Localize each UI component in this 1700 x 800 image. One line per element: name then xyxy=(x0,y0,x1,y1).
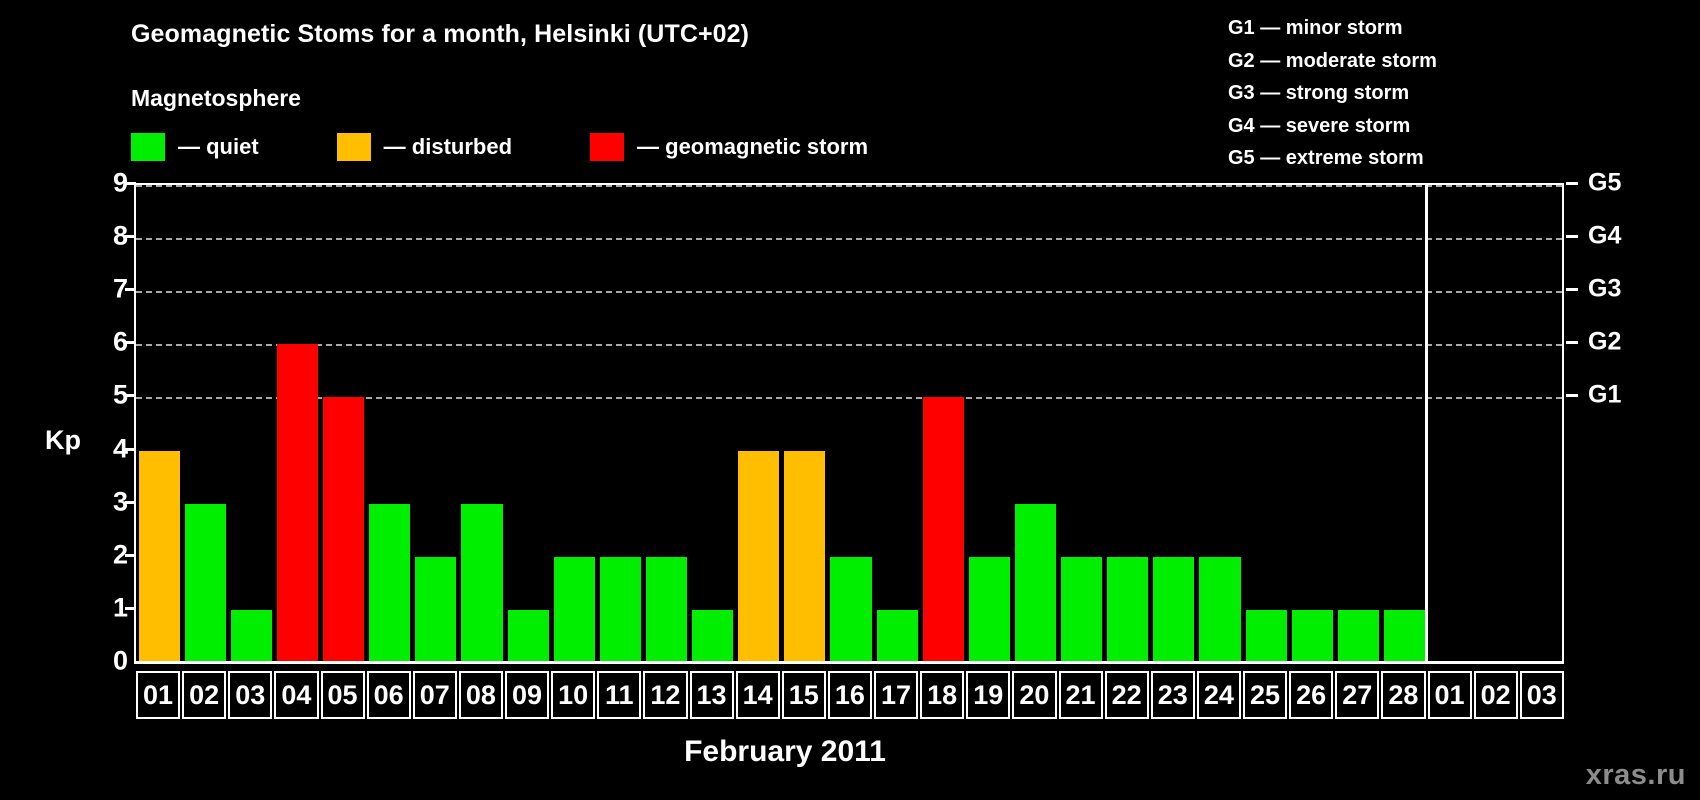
y-axis-tick-label: 3 xyxy=(68,486,128,517)
day-label-cell[interactable]: 11 xyxy=(597,671,641,719)
y-axis-tick-label: 8 xyxy=(68,221,128,252)
day-label-cell[interactable]: 12 xyxy=(643,671,687,719)
y-axis-tick-mark xyxy=(125,288,136,291)
bar xyxy=(1199,557,1240,663)
day-label-cell[interactable]: 04 xyxy=(274,671,318,719)
g-scale-tick-label: G5 xyxy=(1588,169,1621,198)
legend-entry: — disturbed xyxy=(337,132,512,162)
day-label-cell[interactable]: 19 xyxy=(966,671,1010,719)
bar xyxy=(923,397,964,663)
bar xyxy=(554,557,595,663)
bar xyxy=(185,504,226,663)
y-axis-tick-label: 9 xyxy=(68,168,128,199)
bar xyxy=(1015,504,1056,663)
legend-color-swatch xyxy=(131,133,165,161)
bar xyxy=(415,557,456,663)
g-scale-tick-mark xyxy=(1566,341,1578,344)
x-axis-baseline xyxy=(134,661,1564,664)
legend-entry: — quiet xyxy=(131,132,259,162)
page-title: Geomagnetic Stoms for a month, Helsinki … xyxy=(131,20,749,49)
day-label-cell[interactable]: 21 xyxy=(1059,671,1103,719)
y-axis-tick-label: 0 xyxy=(68,646,128,677)
day-label-cell[interactable]: 25 xyxy=(1243,671,1287,719)
bar xyxy=(738,451,779,663)
day-label-cell[interactable]: 27 xyxy=(1335,671,1379,719)
bar xyxy=(1246,610,1287,663)
y-axis-tick-label: 2 xyxy=(68,539,128,570)
bar xyxy=(600,557,641,663)
y-axis-tick-label: 6 xyxy=(68,327,128,358)
day-label-cell[interactable]: 08 xyxy=(459,671,503,719)
month-separator-line xyxy=(1425,183,1428,663)
bar xyxy=(1384,610,1425,663)
y-axis-tick-label: 1 xyxy=(68,592,128,623)
x-axis-day-labels: 0102030405060708091011121314151617181920… xyxy=(136,671,1566,719)
bar xyxy=(369,504,410,663)
y-axis-tick-label: 7 xyxy=(68,274,128,305)
y-axis-tick-label: 5 xyxy=(68,380,128,411)
g-scale-tick-label: G3 xyxy=(1588,275,1621,304)
legend-color-swatch xyxy=(590,133,624,161)
day-label-cell[interactable]: 03 xyxy=(1520,671,1564,719)
bar xyxy=(1107,557,1148,663)
y-axis-tick-mark xyxy=(125,501,136,504)
bar xyxy=(323,397,364,663)
day-label-cell[interactable]: 24 xyxy=(1197,671,1241,719)
legend-color-swatch xyxy=(337,133,371,161)
legend-label: — geomagnetic storm xyxy=(637,134,868,160)
bar xyxy=(969,557,1010,663)
x-axis-title-wrapper: February 2011 xyxy=(0,735,1700,769)
bar xyxy=(877,610,918,663)
bar xyxy=(231,610,272,663)
day-label-cell[interactable]: 10 xyxy=(551,671,595,719)
day-label-cell[interactable]: 09 xyxy=(505,671,549,719)
bar xyxy=(692,610,733,663)
day-label-cell[interactable]: 06 xyxy=(367,671,411,719)
legend-label: — disturbed xyxy=(384,134,512,160)
day-label-cell[interactable]: 13 xyxy=(690,671,734,719)
plot-area xyxy=(134,183,1564,663)
bar xyxy=(830,557,871,663)
g-scale-tick-mark xyxy=(1566,394,1578,397)
day-label-cell[interactable]: 17 xyxy=(874,671,918,719)
bar xyxy=(784,451,825,663)
g-scale-tick-label: G2 xyxy=(1588,328,1621,357)
y-axis-tick-mark xyxy=(125,448,136,451)
bar xyxy=(461,504,502,663)
day-label-cell[interactable]: 23 xyxy=(1151,671,1195,719)
g-scale-tick-mark xyxy=(1566,182,1578,185)
y-axis-tick-mark xyxy=(125,235,136,238)
x-axis-title: February 2011 xyxy=(684,735,886,769)
gscale-description-item: G2 — moderate storm xyxy=(1228,45,1437,78)
g-scale-tick-mark xyxy=(1566,288,1578,291)
gscale-description-item: G3 — strong storm xyxy=(1228,77,1437,110)
day-label-cell[interactable]: 20 xyxy=(1012,671,1056,719)
day-label-cell[interactable]: 01 xyxy=(136,671,180,719)
magnetosphere-legend: — quiet— disturbed— geomagnetic storm xyxy=(131,132,868,162)
bar xyxy=(508,610,549,663)
y-axis-tick-mark xyxy=(125,341,136,344)
day-label-cell[interactable]: 14 xyxy=(736,671,780,719)
bar xyxy=(1292,610,1333,663)
day-label-cell[interactable]: 15 xyxy=(782,671,826,719)
bar xyxy=(1338,610,1379,663)
plot-inner xyxy=(136,185,1562,663)
day-label-cell[interactable]: 03 xyxy=(228,671,272,719)
legend-label: — quiet xyxy=(178,134,259,160)
day-label-cell[interactable]: 28 xyxy=(1381,671,1425,719)
day-label-cell[interactable]: 01 xyxy=(1428,671,1472,719)
day-label-cell[interactable]: 02 xyxy=(1474,671,1518,719)
day-label-cell[interactable]: 22 xyxy=(1105,671,1149,719)
bar xyxy=(139,451,180,663)
y-axis-tick-mark xyxy=(125,607,136,610)
y-axis-tick-mark xyxy=(125,554,136,557)
gscale-description-list: G1 — minor stormG2 — moderate stormG3 — … xyxy=(1228,12,1437,175)
gscale-description-item: G4 — severe storm xyxy=(1228,110,1437,143)
day-label-cell[interactable]: 16 xyxy=(828,671,872,719)
y-axis-tick-mark xyxy=(125,394,136,397)
day-label-cell[interactable]: 18 xyxy=(920,671,964,719)
y-axis-tick-label: 4 xyxy=(68,433,128,464)
watermark: xras.ru xyxy=(1586,759,1686,792)
magnetosphere-heading: Magnetosphere xyxy=(131,85,301,112)
bar xyxy=(1153,557,1194,663)
g-scale-tick-label: G1 xyxy=(1588,381,1621,410)
day-label-cell[interactable]: 05 xyxy=(321,671,365,719)
y-axis-tick-mark xyxy=(125,182,136,185)
gscale-description-item: G5 — extreme storm xyxy=(1228,142,1437,175)
bar xyxy=(277,344,318,663)
day-label-cell[interactable]: 02 xyxy=(182,671,226,719)
bar xyxy=(646,557,687,663)
g-scale-tick-label: G4 xyxy=(1588,222,1621,251)
day-label-cell[interactable]: 26 xyxy=(1289,671,1333,719)
legend-entry: — geomagnetic storm xyxy=(590,132,868,162)
g-scale-tick-mark xyxy=(1566,235,1578,238)
gscale-description-item: G1 — minor storm xyxy=(1228,12,1437,45)
day-label-cell[interactable]: 07 xyxy=(413,671,457,719)
bar xyxy=(1061,557,1102,663)
bars-layer xyxy=(136,185,1562,663)
